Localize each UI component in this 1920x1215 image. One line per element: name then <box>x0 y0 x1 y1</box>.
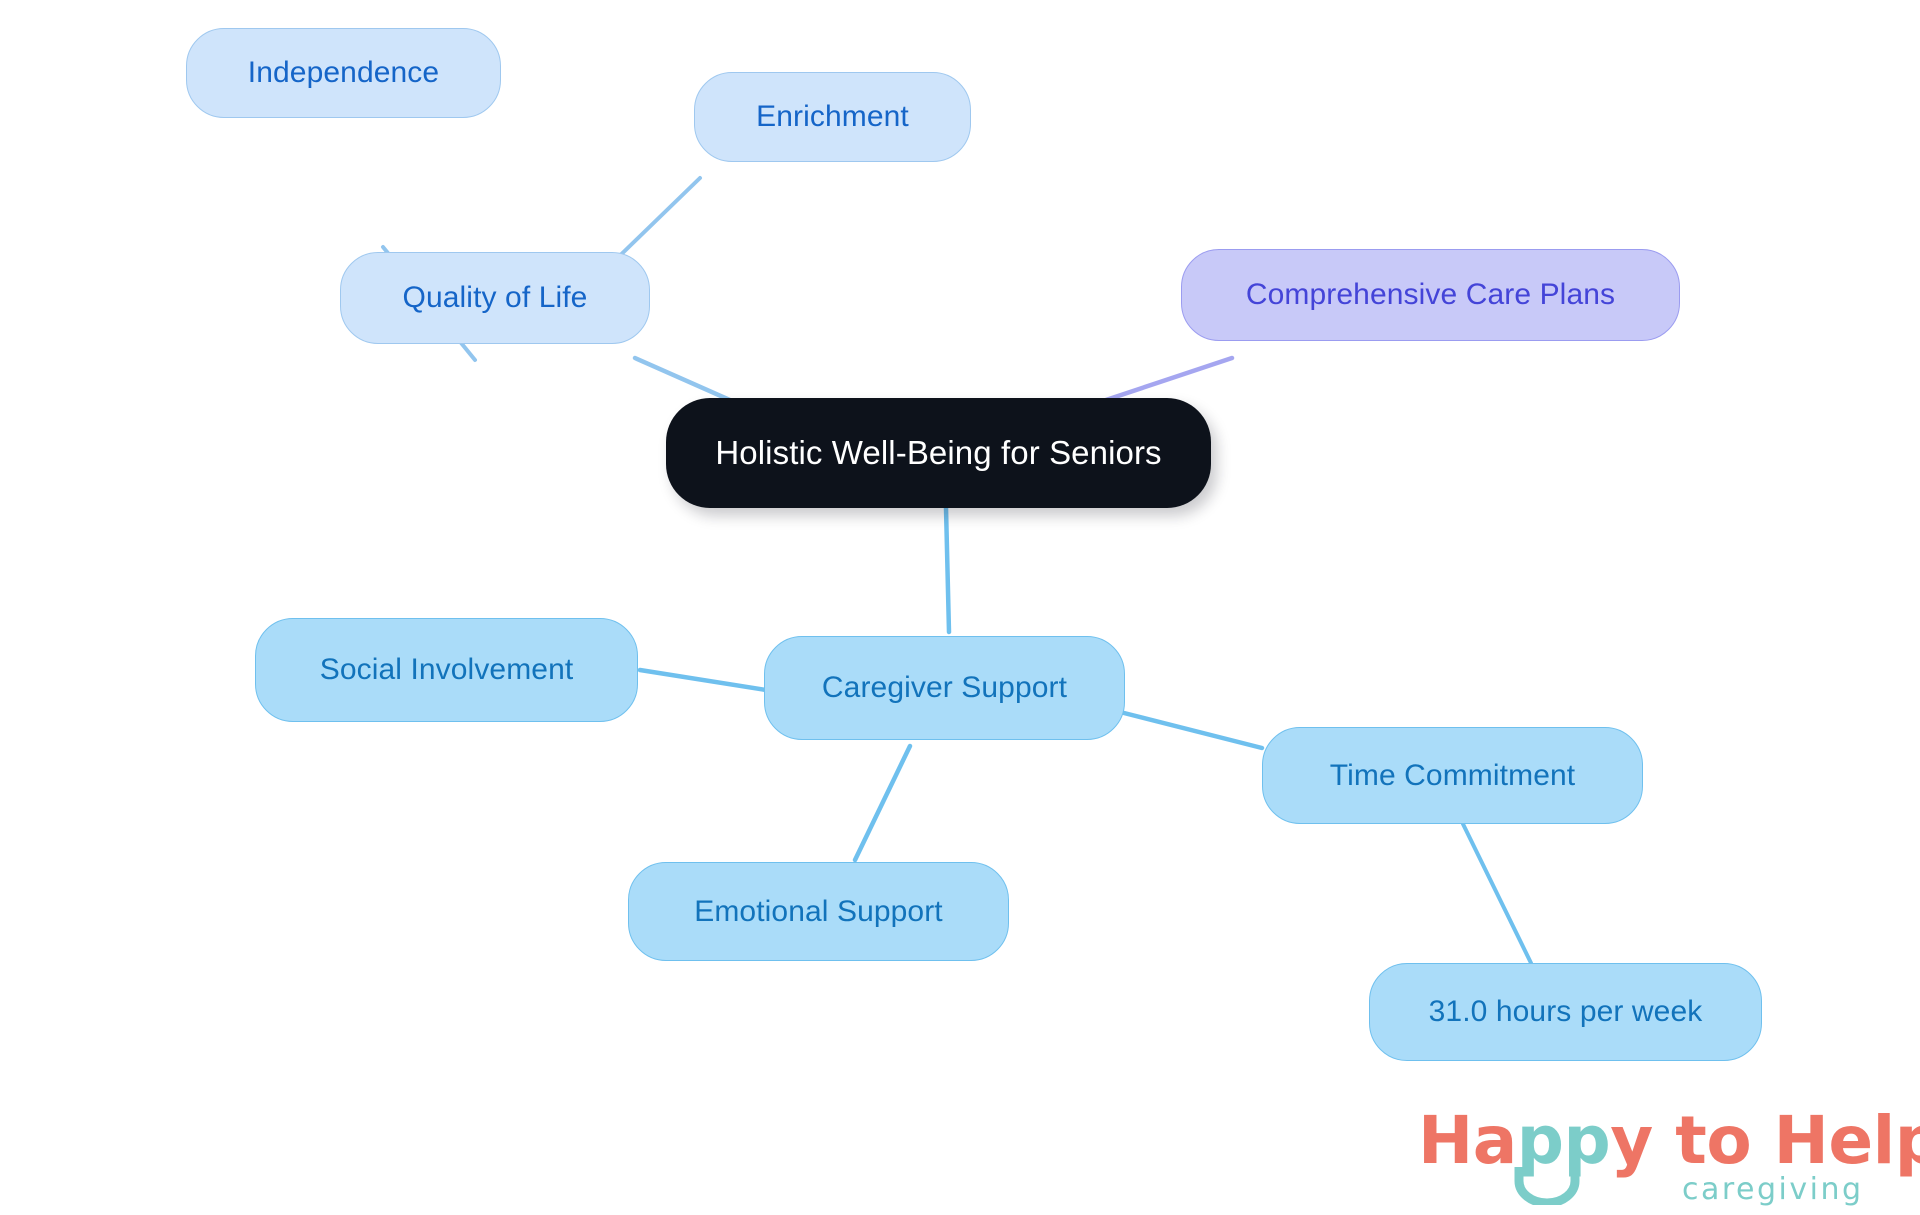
edge-caregiver-support-time-commitment <box>1124 713 1262 748</box>
node-emotional-support-label: Emotional Support <box>694 895 943 929</box>
node-comprehensive-care-plans[interactable]: Comprehensive Care Plans <box>1181 249 1680 341</box>
brand-logo: Happy to Help caregiving <box>1418 1108 1888 1208</box>
logo-wordmark: Happy to Help <box>1418 1108 1920 1174</box>
edge-caregiver-support-emotional-support <box>855 746 910 860</box>
node-time-commitment[interactable]: Time Commitment <box>1262 727 1643 824</box>
node-caregiver-support-label: Caregiver Support <box>822 671 1067 705</box>
node-social-involvement-label: Social Involvement <box>320 653 574 687</box>
node-social-involvement[interactable]: Social Involvement <box>255 618 638 722</box>
smile-icon <box>1514 1165 1580 1205</box>
edge-caregiver-support-social-involvement <box>640 670 766 690</box>
node-root-label: Holistic Well-Being for Seniors <box>715 434 1161 472</box>
node-time-commitment-label: Time Commitment <box>1330 759 1575 793</box>
node-enrichment-label: Enrichment <box>756 100 909 134</box>
node-quality-of-life[interactable]: Quality of Life <box>340 252 650 344</box>
node-independence-label: Independence <box>248 56 439 90</box>
node-root-holistic-well-being[interactable]: Holistic Well-Being for Seniors <box>666 398 1211 508</box>
node-independence[interactable]: Independence <box>186 28 501 118</box>
node-hours-per-week[interactable]: 31.0 hours per week <box>1369 963 1762 1061</box>
node-comprehensive-care-plans-label: Comprehensive Care Plans <box>1246 278 1615 312</box>
edge-root-caregiver-support <box>946 508 949 632</box>
logo-word-part-1: Ha <box>1418 1102 1517 1179</box>
logo-tagline: caregiving <box>1682 1172 1864 1207</box>
edge-time-commitment-hours-per-week <box>1463 824 1531 963</box>
mindmap-canvas: Independence Enrichment Quality of Life … <box>0 0 1920 1215</box>
node-quality-of-life-label: Quality of Life <box>403 281 588 315</box>
logo-word-part-3: y to Help <box>1610 1102 1920 1179</box>
node-hours-per-week-label: 31.0 hours per week <box>1429 995 1703 1029</box>
edge-root-comprehensive-care-plans <box>1106 358 1232 400</box>
node-enrichment[interactable]: Enrichment <box>694 72 971 162</box>
node-caregiver-support[interactable]: Caregiver Support <box>764 636 1125 740</box>
node-emotional-support[interactable]: Emotional Support <box>628 862 1009 961</box>
